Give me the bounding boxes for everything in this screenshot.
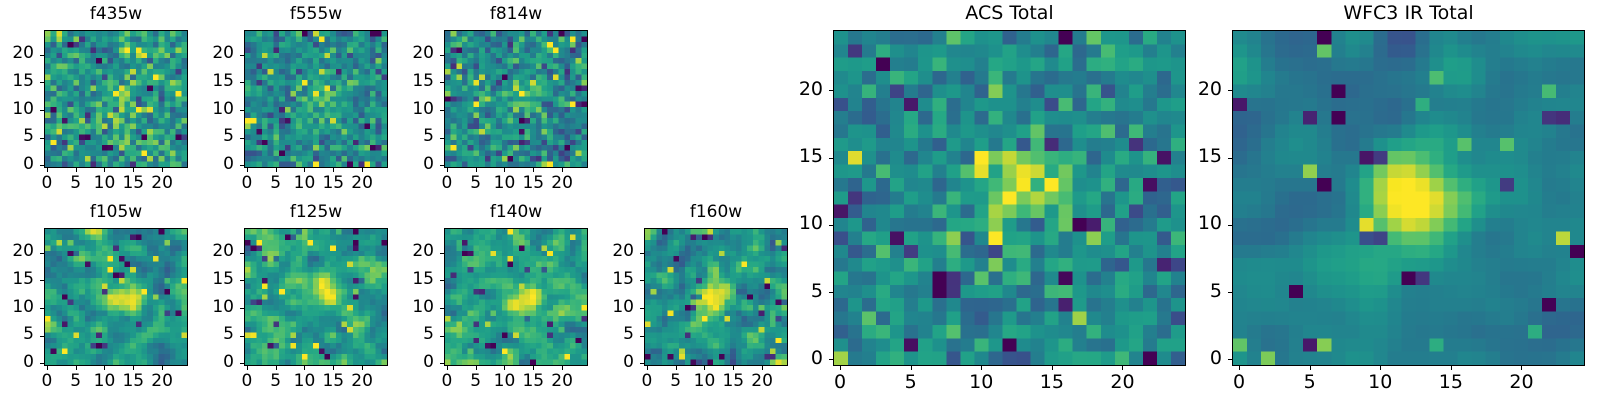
x-tick-label-wfc3-ir-total-5: 5	[1285, 373, 1335, 392]
x-tick-label-acs-total-10: 10	[956, 373, 1006, 392]
heatmap-axes-f555w[interactable]	[244, 30, 388, 168]
y-tick-label-wfc3-ir-total-20: 20	[1170, 80, 1222, 99]
y-tick-acs-total-10	[829, 225, 833, 226]
y-tick-label-f435w-0: 0	[0, 156, 34, 173]
y-tick-f105w-5	[40, 336, 44, 337]
x-tick-f160w-10	[704, 366, 705, 370]
x-tick-f555w-0	[247, 168, 248, 172]
y-tick-label-f105w-5: 5	[0, 326, 34, 343]
y-tick-label-f435w-20: 20	[0, 45, 34, 62]
x-tick-f140w-5	[476, 366, 477, 370]
y-tick-f435w-15	[40, 82, 44, 83]
x-tick-f125w-10	[304, 366, 305, 370]
x-tick-f435w-20	[162, 168, 163, 172]
panel-title-f105w: f105w	[44, 204, 188, 221]
x-tick-f555w-10	[304, 168, 305, 172]
y-tick-f160w-0	[640, 363, 644, 364]
y-tick-f555w-10	[240, 110, 244, 111]
heatmap-image-acs-total	[834, 31, 1185, 365]
x-tick-f105w-0	[47, 366, 48, 370]
x-tick-wfc3-ir-total-10	[1380, 366, 1381, 370]
x-tick-f435w-15	[133, 168, 134, 172]
y-tick-label-f555w-10: 10	[182, 101, 234, 118]
heatmap-axes-f105w[interactable]	[44, 228, 188, 366]
panel-title-f125w: f125w	[244, 204, 388, 221]
y-tick-acs-total-20	[829, 90, 833, 91]
x-tick-f814w-0	[447, 168, 448, 172]
y-tick-acs-total-15	[829, 158, 833, 159]
panel-title-wfc3-ir-total: WFC3 IR Total	[1232, 4, 1585, 23]
panel-f125w: f125w 0510152005101520	[244, 228, 388, 366]
heatmap-image-wfc3-ir-total	[1233, 31, 1584, 365]
y-tick-label-f105w-20: 20	[0, 243, 34, 260]
x-tick-label-f105w-20: 20	[137, 373, 187, 390]
y-tick-f814w-15	[440, 82, 444, 83]
heatmap-axes-wfc3-ir-total[interactable]	[1232, 30, 1585, 366]
y-tick-f140w-20	[440, 253, 444, 254]
y-tick-label-acs-total-0: 0	[771, 349, 823, 368]
y-tick-label-wfc3-ir-total-0: 0	[1170, 349, 1222, 368]
y-tick-f814w-20	[440, 55, 444, 56]
y-tick-label-f814w-20: 20	[382, 45, 434, 62]
x-tick-acs-total-20	[1122, 366, 1123, 370]
y-tick-label-acs-total-20: 20	[771, 80, 823, 99]
x-tick-label-wfc3-ir-total-15: 15	[1426, 373, 1476, 392]
x-tick-label-f140w-20: 20	[537, 373, 587, 390]
x-tick-label-acs-total-15: 15	[1027, 373, 1077, 392]
y-tick-label-acs-total-10: 10	[771, 214, 823, 233]
x-tick-wfc3-ir-total-0	[1239, 366, 1240, 370]
y-tick-f140w-15	[440, 280, 444, 281]
x-tick-acs-total-0	[840, 366, 841, 370]
x-tick-wfc3-ir-total-15	[1451, 366, 1452, 370]
y-tick-wfc3-ir-total-5	[1228, 292, 1232, 293]
y-tick-label-f160w-0: 0	[582, 354, 634, 371]
y-tick-f105w-20	[40, 253, 44, 254]
y-tick-f140w-10	[440, 308, 444, 309]
heatmap-axes-f814w[interactable]	[444, 30, 588, 168]
y-tick-f125w-10	[240, 308, 244, 309]
heatmap-axes-f140w[interactable]	[444, 228, 588, 366]
x-tick-f125w-20	[362, 366, 363, 370]
heatmap-image-f105w	[45, 229, 187, 365]
x-tick-label-f125w-20: 20	[337, 373, 387, 390]
x-tick-wfc3-ir-total-20	[1521, 366, 1522, 370]
y-tick-f814w-5	[440, 138, 444, 139]
panel-title-f140w: f140w	[444, 204, 588, 221]
x-tick-label-wfc3-ir-total-10: 10	[1355, 373, 1405, 392]
x-tick-f140w-20	[562, 366, 563, 370]
x-tick-f160w-5	[676, 366, 677, 370]
y-tick-label-f814w-15: 15	[382, 73, 434, 90]
heatmap-axes-f435w[interactable]	[44, 30, 188, 168]
y-tick-label-f160w-5: 5	[582, 326, 634, 343]
heatmap-image-f140w	[445, 229, 587, 365]
y-tick-f125w-5	[240, 336, 244, 337]
y-tick-wfc3-ir-total-20	[1228, 90, 1232, 91]
y-tick-label-f140w-0: 0	[382, 354, 434, 371]
y-tick-label-f105w-0: 0	[0, 354, 34, 371]
y-tick-f125w-15	[240, 280, 244, 281]
y-tick-label-f140w-5: 5	[382, 326, 434, 343]
x-tick-f105w-5	[76, 366, 77, 370]
y-tick-label-f435w-15: 15	[0, 73, 34, 90]
y-tick-label-f435w-10: 10	[0, 101, 34, 118]
y-tick-label-f125w-5: 5	[182, 326, 234, 343]
y-tick-label-f555w-5: 5	[182, 128, 234, 145]
x-tick-f814w-10	[504, 168, 505, 172]
panel-title-acs-total: ACS Total	[833, 4, 1186, 23]
x-tick-f435w-10	[104, 168, 105, 172]
heatmap-axes-acs-total[interactable]	[833, 30, 1186, 366]
y-tick-f555w-15	[240, 82, 244, 83]
x-tick-f160w-0	[647, 366, 648, 370]
x-tick-f105w-20	[162, 366, 163, 370]
y-tick-label-f814w-0: 0	[382, 156, 434, 173]
y-tick-f160w-20	[640, 253, 644, 254]
x-tick-f814w-15	[533, 168, 534, 172]
y-tick-f435w-0	[40, 165, 44, 166]
x-tick-f555w-20	[362, 168, 363, 172]
y-tick-label-f555w-0: 0	[182, 156, 234, 173]
y-tick-f160w-5	[640, 336, 644, 337]
panel-title-f814w: f814w	[444, 6, 588, 23]
y-tick-label-f125w-20: 20	[182, 243, 234, 260]
y-tick-f435w-10	[40, 110, 44, 111]
y-tick-label-f160w-20: 20	[582, 243, 634, 260]
y-tick-label-acs-total-5: 5	[771, 282, 823, 301]
y-tick-label-f160w-15: 15	[582, 271, 634, 288]
y-tick-label-f140w-15: 15	[382, 271, 434, 288]
panel-f555w: f555w 0510152005101520	[244, 30, 388, 168]
panel-wfc3-ir-total: WFC3 IR Total 0510152005101520	[1232, 30, 1585, 366]
x-tick-label-acs-total-0: 0	[815, 373, 865, 392]
heatmap-image-f160w	[645, 229, 787, 365]
y-tick-wfc3-ir-total-15	[1228, 158, 1232, 159]
y-tick-f814w-0	[440, 165, 444, 166]
y-tick-f160w-15	[640, 280, 644, 281]
y-tick-f105w-10	[40, 308, 44, 309]
x-tick-f160w-20	[762, 366, 763, 370]
x-tick-f555w-5	[276, 168, 277, 172]
y-tick-label-f814w-5: 5	[382, 128, 434, 145]
y-tick-label-f105w-15: 15	[0, 271, 34, 288]
x-tick-wfc3-ir-total-5	[1310, 366, 1311, 370]
x-tick-label-f435w-20: 20	[137, 175, 187, 192]
x-tick-f140w-0	[447, 366, 448, 370]
y-tick-label-f814w-10: 10	[382, 101, 434, 118]
y-tick-f555w-0	[240, 165, 244, 166]
y-tick-f140w-5	[440, 336, 444, 337]
panel-title-f160w: f160w	[644, 204, 788, 221]
x-tick-label-wfc3-ir-total-0: 0	[1214, 373, 1264, 392]
y-tick-label-acs-total-15: 15	[771, 147, 823, 166]
x-tick-f140w-15	[533, 366, 534, 370]
y-tick-label-f140w-10: 10	[382, 299, 434, 316]
x-tick-label-wfc3-ir-total-20: 20	[1496, 373, 1546, 392]
y-tick-label-f125w-0: 0	[182, 354, 234, 371]
panel-f814w: f814w 0510152005101520	[444, 30, 588, 168]
x-tick-f435w-5	[76, 168, 77, 172]
x-tick-f814w-5	[476, 168, 477, 172]
figure-canvas: f435w 0510152005101520 f555w 05101520051…	[0, 0, 1600, 400]
x-tick-f140w-10	[504, 366, 505, 370]
x-tick-f160w-15	[733, 366, 734, 370]
y-tick-f555w-20	[240, 55, 244, 56]
y-tick-label-wfc3-ir-total-15: 15	[1170, 147, 1222, 166]
y-tick-label-f160w-10: 10	[582, 299, 634, 316]
y-tick-label-f125w-10: 10	[182, 299, 234, 316]
x-tick-acs-total-5	[911, 366, 912, 370]
panel-title-f435w: f435w	[44, 6, 188, 23]
y-tick-label-f555w-20: 20	[182, 45, 234, 62]
panel-f140w: f140w 0510152005101520	[444, 228, 588, 366]
panel-acs-total: ACS Total 0510152005101520	[833, 30, 1186, 366]
heatmap-image-f555w	[245, 31, 387, 167]
heatmap-image-f814w	[445, 31, 587, 167]
y-tick-f814w-10	[440, 110, 444, 111]
x-tick-label-acs-total-5: 5	[886, 373, 936, 392]
x-tick-f125w-0	[247, 366, 248, 370]
panel-f105w: f105w 0510152005101520	[44, 228, 188, 366]
y-tick-label-f105w-10: 10	[0, 299, 34, 316]
x-tick-f125w-15	[333, 366, 334, 370]
panel-title-f555w: f555w	[244, 6, 388, 23]
panel-empty-slot	[644, 30, 788, 168]
x-tick-f555w-15	[333, 168, 334, 172]
y-tick-f105w-15	[40, 280, 44, 281]
y-tick-label-wfc3-ir-total-10: 10	[1170, 214, 1222, 233]
heatmap-axes-f125w[interactable]	[244, 228, 388, 366]
y-tick-f160w-10	[640, 308, 644, 309]
x-tick-f125w-5	[276, 366, 277, 370]
y-tick-label-f555w-15: 15	[182, 73, 234, 90]
y-tick-label-wfc3-ir-total-5: 5	[1170, 282, 1222, 301]
y-tick-label-f125w-15: 15	[182, 271, 234, 288]
y-tick-wfc3-ir-total-10	[1228, 225, 1232, 226]
y-tick-f435w-20	[40, 55, 44, 56]
y-tick-f105w-0	[40, 363, 44, 364]
panel-f435w: f435w 0510152005101520	[44, 30, 188, 168]
y-tick-f125w-20	[240, 253, 244, 254]
y-tick-acs-total-5	[829, 292, 833, 293]
y-tick-wfc3-ir-total-0	[1228, 359, 1232, 360]
x-tick-label-f814w-20: 20	[537, 175, 587, 192]
x-tick-f105w-15	[133, 366, 134, 370]
heatmap-axes-f160w[interactable]	[644, 228, 788, 366]
x-tick-label-f555w-20: 20	[337, 175, 387, 192]
panel-f160w: f160w 0510152005101520	[644, 228, 788, 366]
x-tick-f105w-10	[104, 366, 105, 370]
x-tick-label-f160w-20: 20	[737, 373, 787, 390]
x-tick-label-acs-total-20: 20	[1097, 373, 1147, 392]
heatmap-image-f435w	[45, 31, 187, 167]
y-tick-label-f140w-20: 20	[382, 243, 434, 260]
heatmap-image-f125w	[245, 229, 387, 365]
y-tick-acs-total-0	[829, 359, 833, 360]
x-tick-f435w-0	[47, 168, 48, 172]
y-tick-label-f435w-5: 5	[0, 128, 34, 145]
y-tick-f555w-5	[240, 138, 244, 139]
x-tick-acs-total-10	[981, 366, 982, 370]
y-tick-f125w-0	[240, 363, 244, 364]
x-tick-acs-total-15	[1052, 366, 1053, 370]
y-tick-f140w-0	[440, 363, 444, 364]
x-tick-f814w-20	[562, 168, 563, 172]
y-tick-f435w-5	[40, 138, 44, 139]
